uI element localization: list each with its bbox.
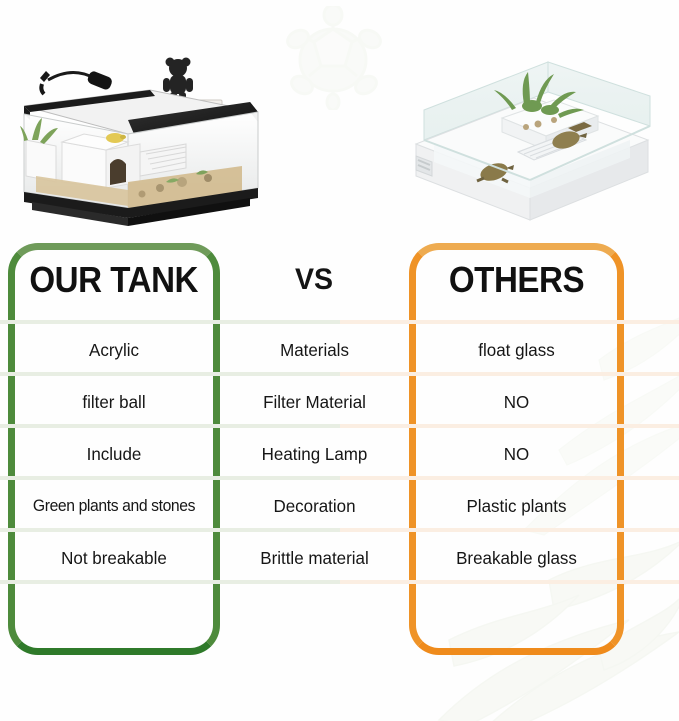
cell-feature-4: Brittle material xyxy=(225,532,404,584)
table-row: filter ball Filter Material NO xyxy=(0,376,679,428)
cell-feature-0: Materials xyxy=(225,324,404,376)
cell-others-2: NO xyxy=(412,428,621,480)
table-row: Not breakable Brittle material Breakable… xyxy=(0,532,679,584)
cell-others-3: Plastic plants xyxy=(412,480,621,532)
cell-others-1: NO xyxy=(412,376,621,428)
table-row: Green plants and stones Decoration Plast… xyxy=(0,480,679,532)
header-vs-label: VS xyxy=(295,263,333,297)
cell-others-0: float glass xyxy=(412,324,621,376)
table-row: Include Heating Lamp NO xyxy=(0,428,679,480)
comparison-table: OUR TANK VS OTHERS Acrylic Materials flo… xyxy=(0,238,679,658)
cell-others-4: Breakable glass xyxy=(412,532,621,584)
header-our-tank: OUR TANK xyxy=(8,252,220,308)
product-photo-others-tank xyxy=(398,48,666,230)
cell-feature-2: Heating Lamp xyxy=(225,428,404,480)
cell-our-4: Not breakable xyxy=(11,532,217,584)
header-others-label: OTHERS xyxy=(449,259,584,301)
cave-entrance xyxy=(110,159,126,185)
header-our-tank-label: OUR TANK xyxy=(30,259,199,301)
infographic-canvas: OUR TANK VS OTHERS Acrylic Materials flo… xyxy=(0,0,679,721)
turtle-watermark xyxy=(278,6,388,110)
clip-lamp-icon xyxy=(40,70,113,94)
cell-feature-3: Decoration xyxy=(225,480,404,532)
cell-our-3: Green plants and stones xyxy=(11,480,217,532)
cell-our-1: filter ball xyxy=(11,376,217,428)
header-others: OTHERS xyxy=(409,252,624,308)
cell-our-2: Include xyxy=(11,428,217,480)
product-photo-our-tank xyxy=(10,42,262,232)
header-vs: VS xyxy=(222,252,407,308)
cell-feature-1: Filter Material xyxy=(225,376,404,428)
table-row: Acrylic Materials float glass xyxy=(0,324,679,376)
cell-our-0: Acrylic xyxy=(11,324,217,376)
